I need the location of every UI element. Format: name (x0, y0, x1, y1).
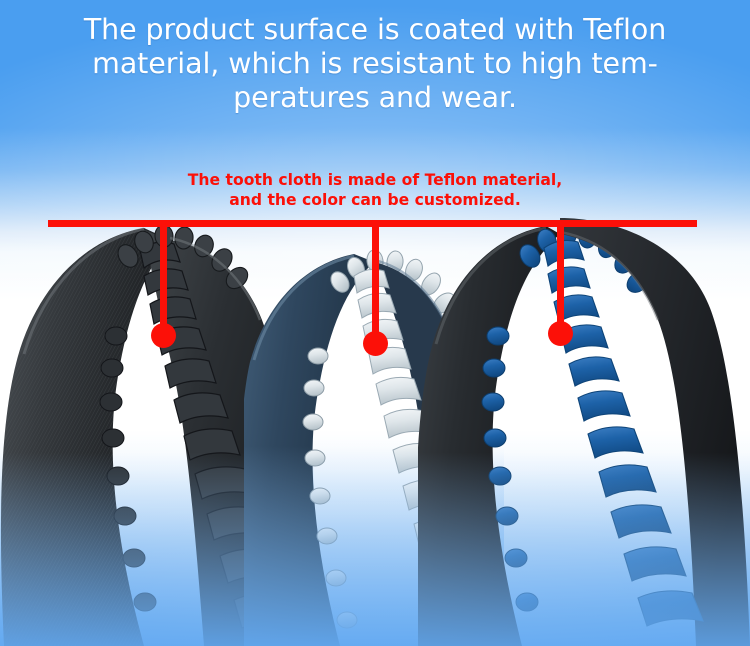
callout-caption: The tooth cloth is made of Teflon materi… (0, 170, 750, 210)
product-feature-banner: The product surface is coated with Teflo… (0, 0, 750, 646)
product-image-blue-tooth-timing-belt (418, 216, 750, 646)
page-title: The product surface is coated with Teflo… (0, 13, 750, 115)
